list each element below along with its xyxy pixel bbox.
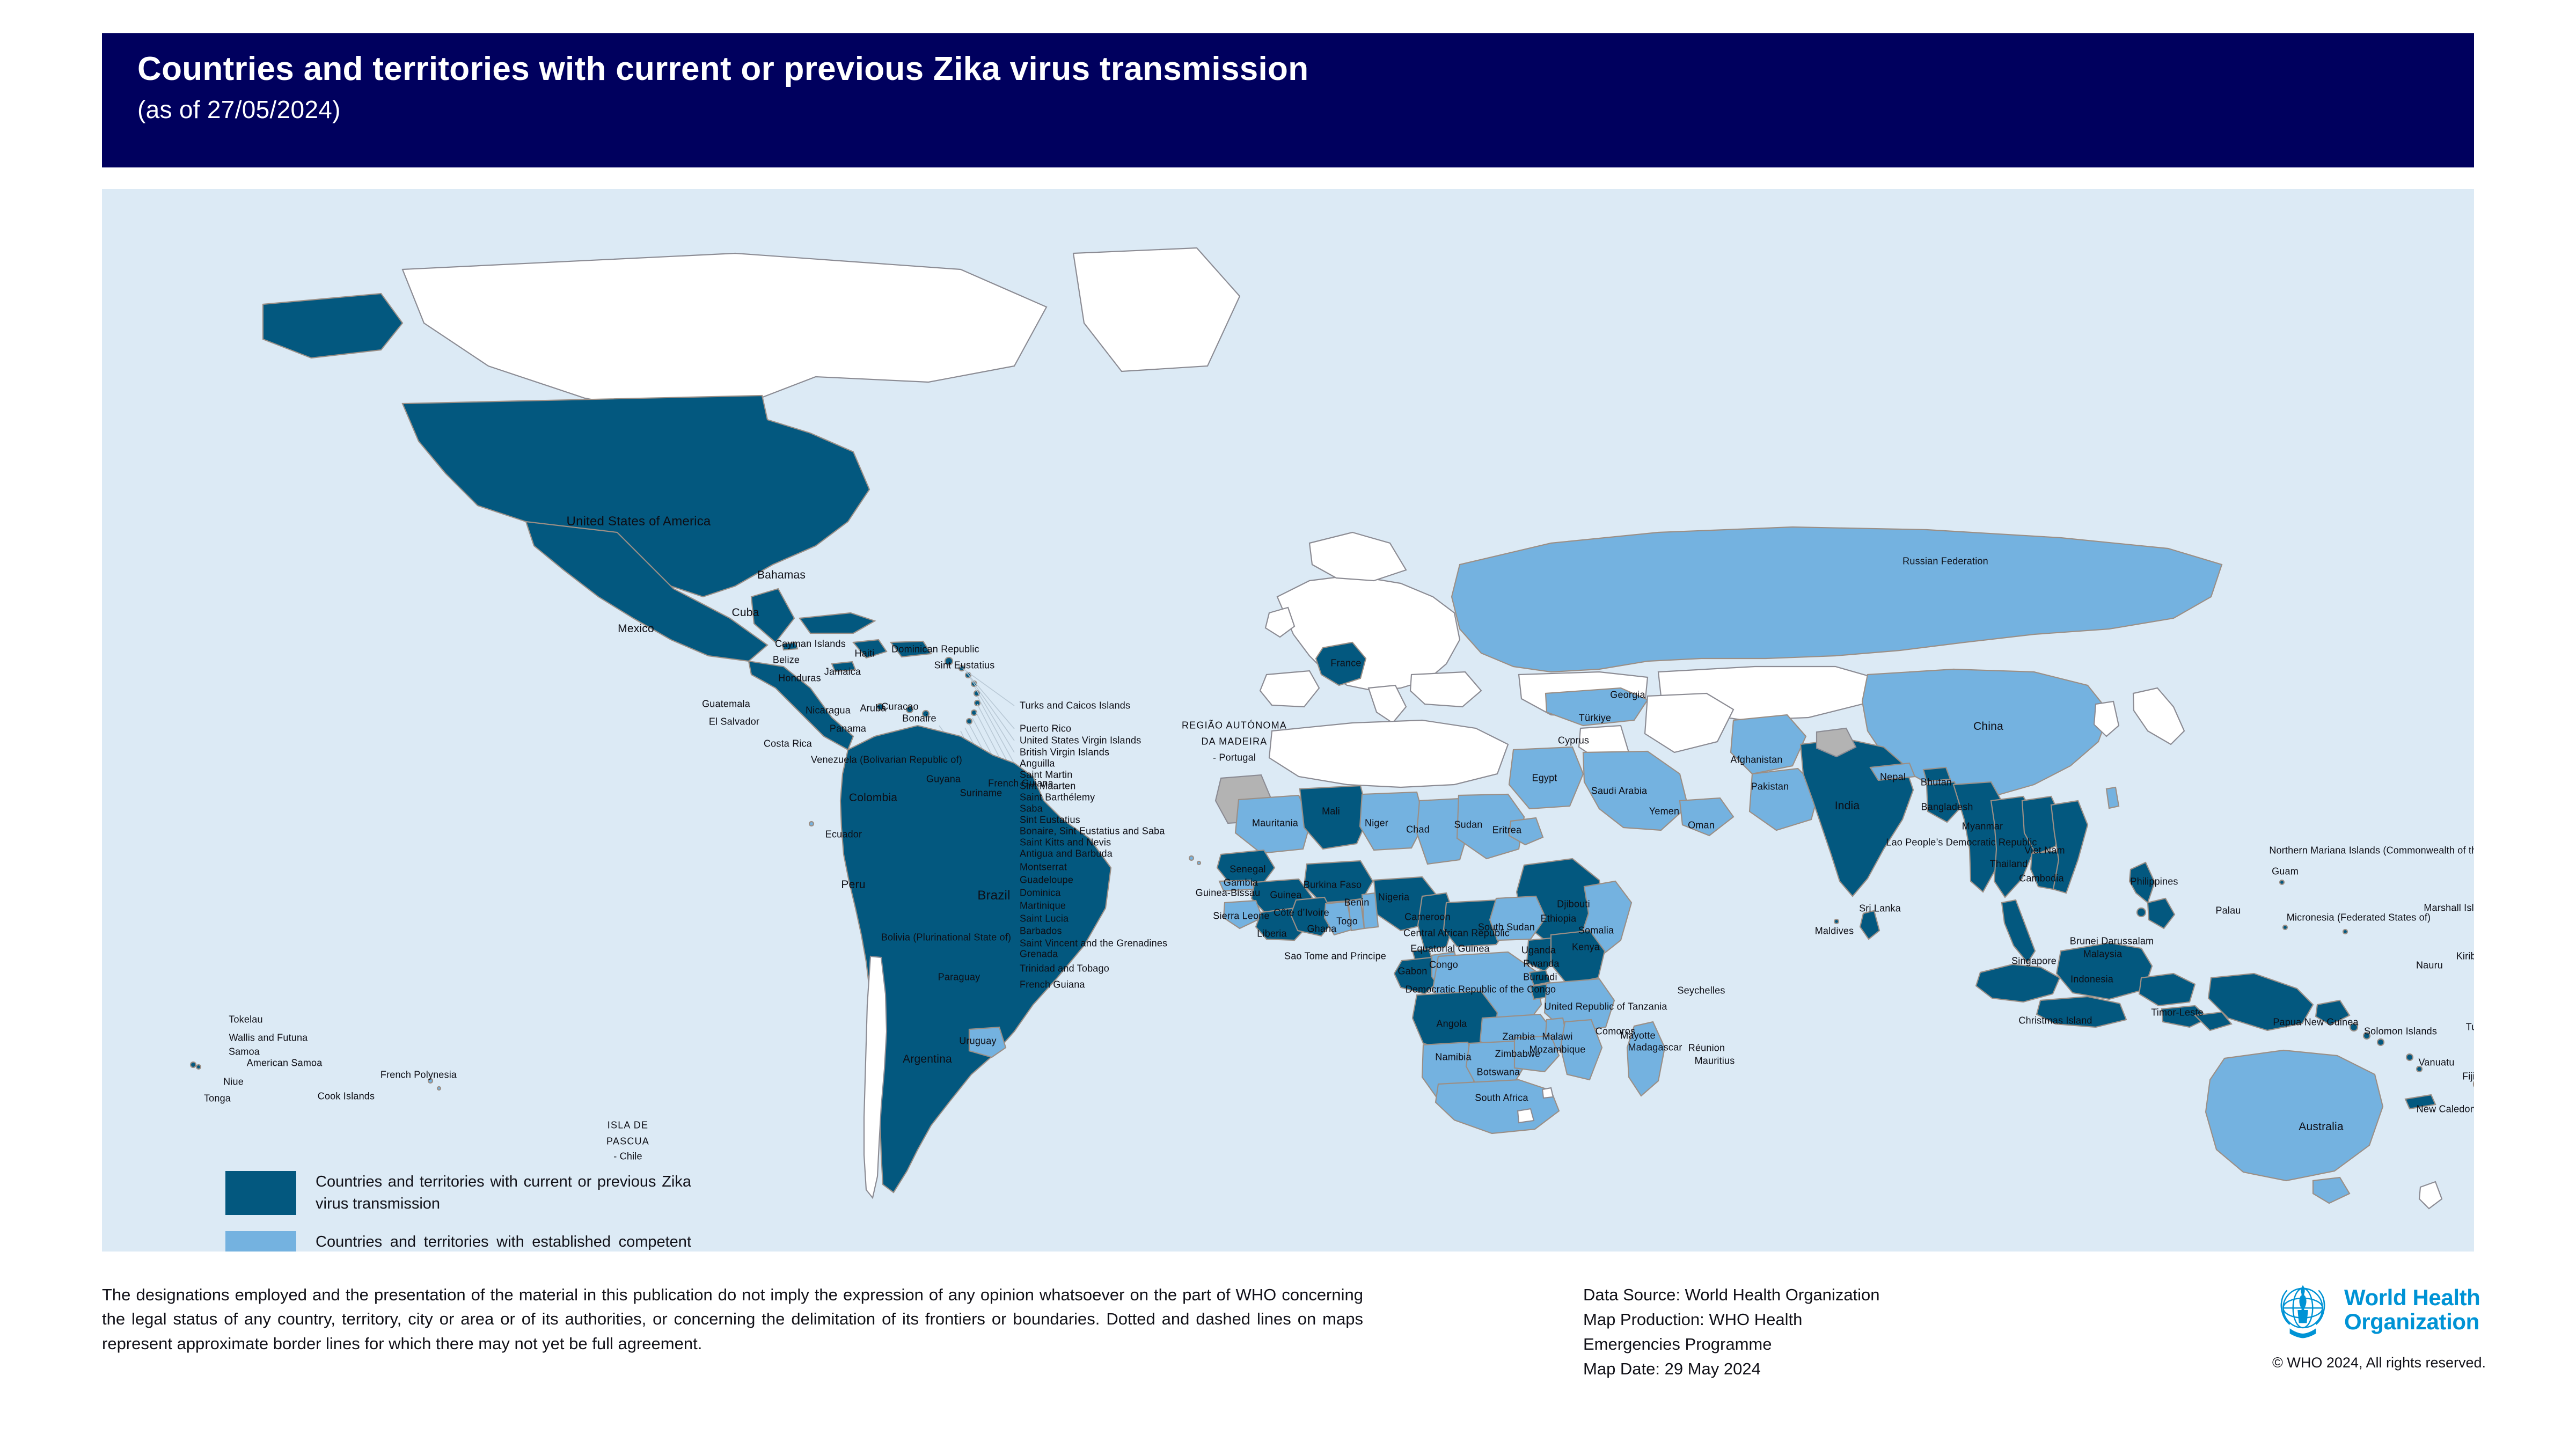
zika-map-page: Countries and territories with current o… (0, 0, 2576, 1449)
legend-item-transmission: Countries and territories with current o… (225, 1171, 784, 1215)
legend-label-transmission: Countries and territories with current o… (316, 1171, 691, 1215)
map-production-line: Map Production: WHO Health (1583, 1307, 2173, 1332)
world-map-panel[interactable]: .dk{fill:#03587f;stroke:#9b8f86;stroke-w… (102, 189, 2474, 1252)
data-source-line: Data Source: World Health Organization (1583, 1283, 2173, 1307)
legend-swatch-transmission (225, 1171, 296, 1215)
map-footer: The designations employed and the presen… (102, 1272, 2474, 1433)
page-title: Countries and territories with current o… (137, 52, 2474, 87)
who-logo-line2: Organization (2344, 1310, 2480, 1334)
map-date-line: Map Date: 29 May 2024 (1583, 1357, 2173, 1381)
disclaimer-text: The designations employed and the presen… (102, 1283, 1363, 1356)
who-logo-line1: World Health (2344, 1286, 2480, 1310)
copyright-text: © WHO 2024, All rights reserved. (2270, 1355, 2576, 1371)
legend-swatch-vector-only (225, 1231, 296, 1252)
legend-item-vector-only: Countries and territories with establish… (225, 1231, 784, 1252)
map-production-line-2: Emergencies Programme (1583, 1332, 2173, 1357)
source-block: Data Source: World Health Organization M… (1583, 1283, 2173, 1381)
map-header: Countries and territories with current o… (102, 33, 2474, 167)
who-emblem-icon (2270, 1277, 2336, 1343)
map-legend: Countries and territories with current o… (225, 1171, 784, 1252)
who-logo-block: World Health Organization © WHO 2024, Al… (2270, 1277, 2576, 1371)
legend-label-vector-only: Countries and territories with establish… (316, 1231, 691, 1252)
world-map-graphic: .dk{fill:#03587f;stroke:#9b8f86;stroke-w… (102, 189, 2474, 1252)
page-subtitle: (as of 27/05/2024) (137, 95, 2474, 124)
